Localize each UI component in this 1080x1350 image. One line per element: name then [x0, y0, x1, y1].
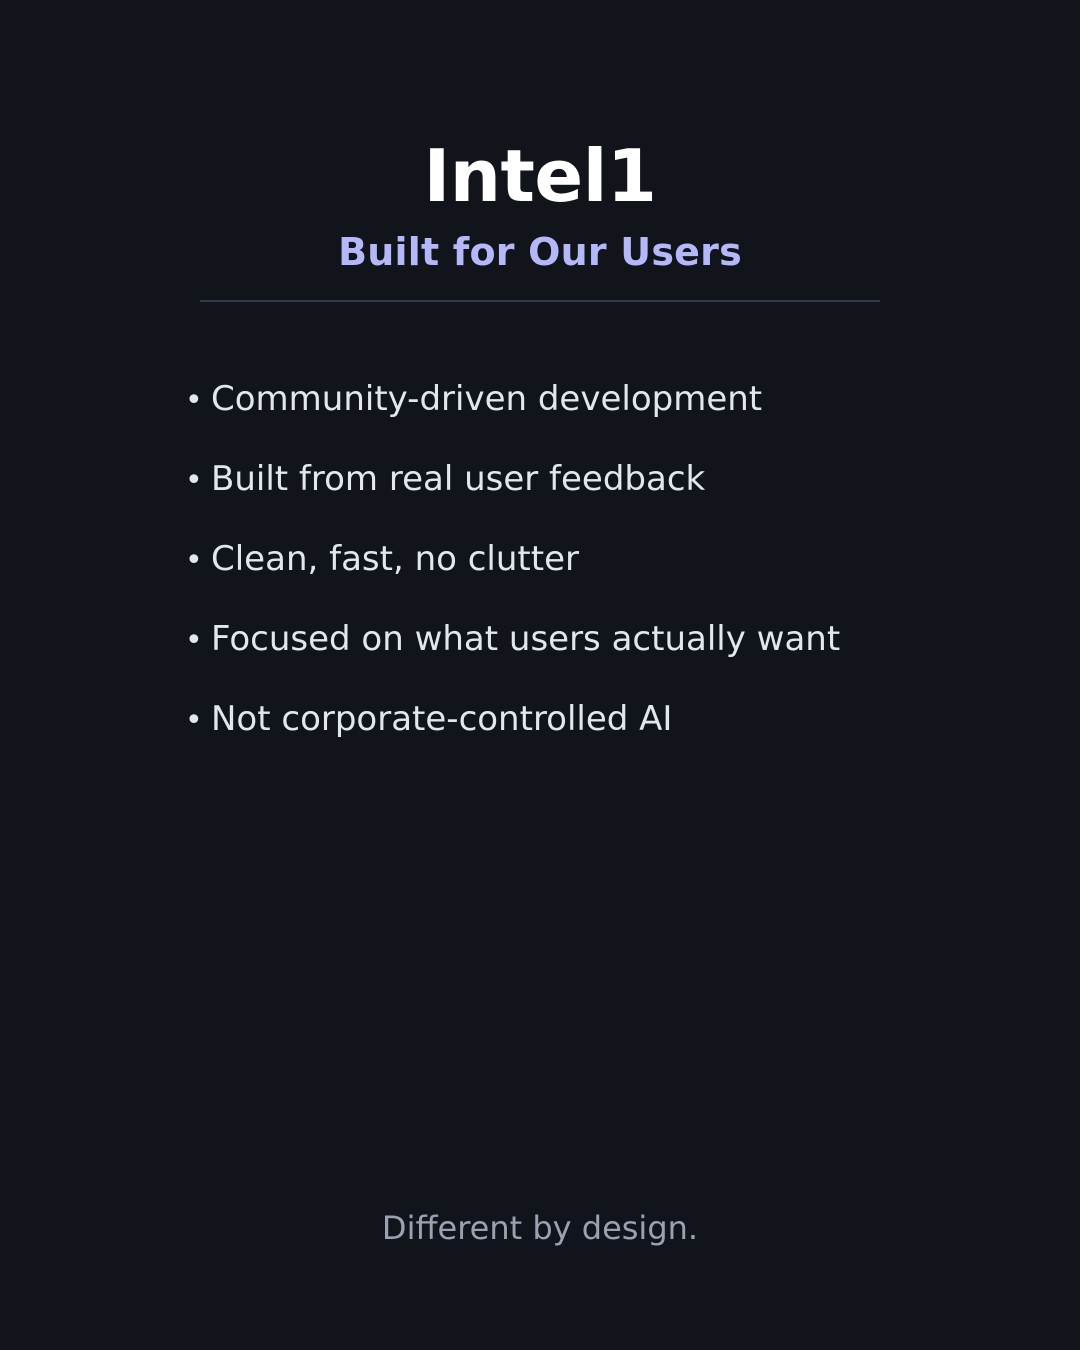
- list-item: •Community-driven development: [185, 377, 985, 457]
- bullet-point-icon: •: [185, 379, 211, 423]
- page-title: Intel1: [0, 140, 1080, 212]
- feature-bullet-list: •Community-driven development •Built fro…: [185, 377, 985, 777]
- bullet-point-icon: •: [185, 619, 211, 663]
- list-item: •Not corporate-controlled AI: [185, 697, 985, 777]
- bullet-point-icon: •: [185, 459, 211, 503]
- slide-root: Intel1 Built for Our Users •Community-dr…: [0, 0, 1080, 1350]
- bullet-point-icon: •: [185, 539, 211, 583]
- header-divider: [200, 300, 880, 302]
- list-item-label: Built from real user feedback: [211, 459, 705, 499]
- bullet-point-icon: •: [185, 699, 211, 743]
- list-item: •Focused on what users actually want: [185, 617, 985, 697]
- list-item-label: Clean, fast, no clutter: [211, 539, 579, 579]
- list-item-label: Community-driven development: [211, 379, 762, 419]
- list-item: •Clean, fast, no clutter: [185, 537, 985, 617]
- list-item: •Built from real user feedback: [185, 457, 985, 537]
- list-item-label: Not corporate-controlled AI: [211, 699, 672, 739]
- list-item-label: Focused on what users actually want: [211, 619, 840, 659]
- page-subtitle: Built for Our Users: [0, 233, 1080, 271]
- footer-tagline: Different by design.: [0, 1208, 1080, 1250]
